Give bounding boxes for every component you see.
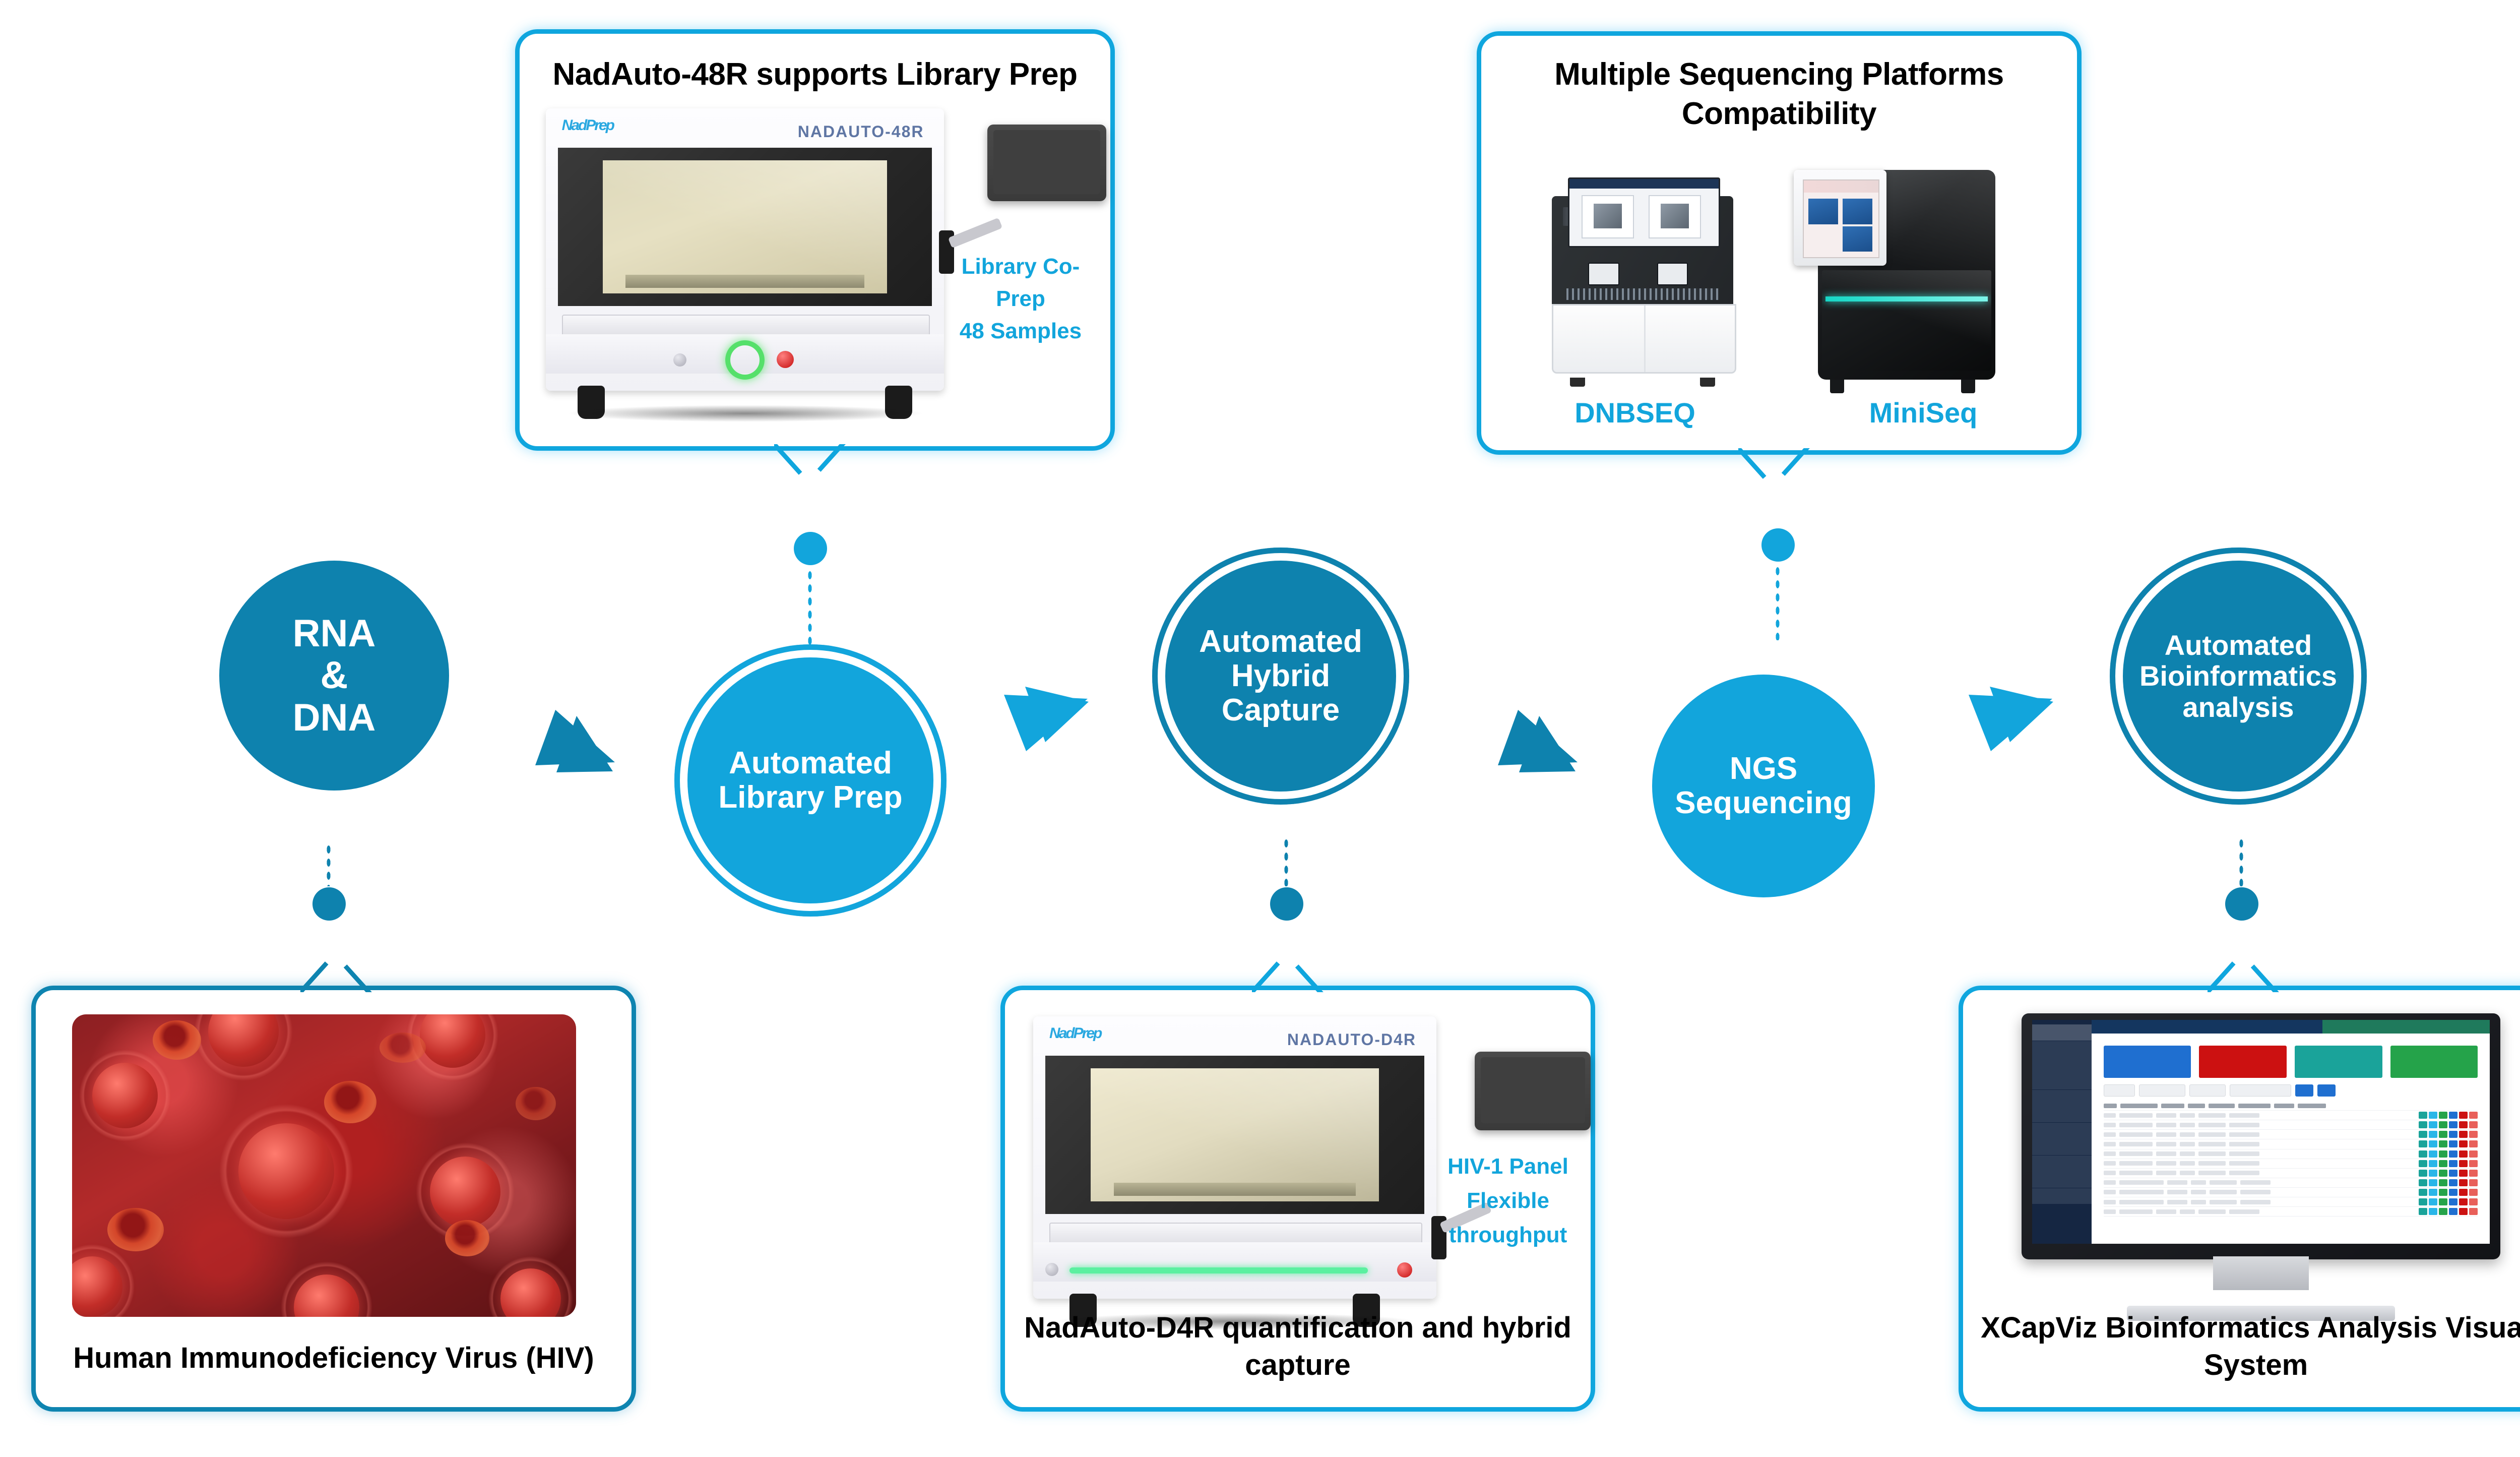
table-row[interactable] xyxy=(2104,1188,2478,1197)
connector-dot xyxy=(794,532,827,565)
dashboard-filter-row[interactable] xyxy=(2092,1084,2490,1101)
hiv-virus-image xyxy=(72,1014,576,1317)
dashboard-topbar xyxy=(2092,1020,2490,1034)
kpi-tile[interactable] xyxy=(2104,1046,2191,1078)
table-row[interactable] xyxy=(2104,1130,2478,1139)
card-nadauto-d4r[interactable]: NadPrep NADAUTO-D4R HIV-1 Panel Flexible… xyxy=(1000,986,1595,1412)
node-line: Hybrid xyxy=(1231,659,1330,693)
arrow-2-library-prep-to-hybrid xyxy=(989,671,1130,771)
node-line: DNA xyxy=(293,697,376,739)
workflow-node-bioinformatics[interactable]: Automated Bioinformatics analysis xyxy=(2110,548,2367,805)
platform-label-dnbseq: DNBSEQ xyxy=(1574,397,1695,429)
table-row[interactable] xyxy=(2104,1139,2478,1149)
table-row[interactable] xyxy=(2104,1169,2478,1178)
table-row[interactable] xyxy=(2104,1207,2478,1217)
table-row[interactable] xyxy=(2104,1111,2478,1120)
card-hiv-caption: Human Immunodeficiency Virus (HIV) xyxy=(36,1341,632,1376)
node-line: Sequencing xyxy=(1675,786,1852,820)
card-d4r-caption-line1: NadAuto-D4R quantification and hybrid xyxy=(1005,1310,1591,1346)
xcapviz-monitor xyxy=(2022,1013,2500,1321)
instrument-nadauto-48r: NadPrep NADAUTO-48R xyxy=(546,108,944,391)
sequencer-dnbseq-image xyxy=(1552,165,1733,387)
d4r-note-line2: Flexible xyxy=(1432,1184,1584,1218)
arrow-1-rna-to-library-prep xyxy=(514,701,665,802)
instrument-logo: NadPrep xyxy=(562,117,613,134)
library-coprep-note-line2: 48 Samples xyxy=(945,315,1096,347)
arrow-3-hybrid-to-ngs xyxy=(1477,701,1628,802)
kpi-tile[interactable] xyxy=(2295,1046,2382,1078)
table-row[interactable] xyxy=(2104,1197,2478,1207)
dashboard-table xyxy=(2092,1101,2490,1244)
node-line: Bioinformatics xyxy=(2139,660,2337,692)
card-library-prep[interactable]: NadAuto-48R supports Library Prep NadPre… xyxy=(515,29,1115,451)
card-library-prep-title: NadAuto-48R supports Library Prep xyxy=(520,56,1110,93)
workflow-node-hybrid-capture[interactable]: Automated Hybrid Capture xyxy=(1152,548,1409,805)
dashboard-kpi-row xyxy=(2092,1034,2490,1084)
arrow-4-ngs-to-bioinformatics xyxy=(1954,671,2095,771)
d4r-note-line3: throughput xyxy=(1432,1218,1584,1252)
node-line: Library Prep xyxy=(718,780,902,815)
xcapviz-dashboard xyxy=(2032,1020,2490,1244)
connector-dot xyxy=(1270,887,1303,921)
connector-dotted-line xyxy=(2238,837,2244,886)
node-line: NGS xyxy=(1730,752,1797,786)
node-line: Automated xyxy=(2165,630,2312,661)
instrument-model: NADAUTO-D4R xyxy=(1287,1030,1416,1049)
sequencer-miniseq-image xyxy=(1794,161,1995,389)
platform-label-miniseq: MiniSeq xyxy=(1869,397,1978,429)
workflow-node-ngs-sequencing[interactable]: NGS Sequencing xyxy=(1652,675,1875,897)
card-platforms-title-line2: Compatibility xyxy=(1481,95,2077,132)
kpi-tile[interactable] xyxy=(2390,1046,2478,1078)
table-row[interactable] xyxy=(2104,1149,2478,1159)
node-line: & xyxy=(321,654,348,697)
node-line: RNA xyxy=(293,613,376,655)
table-row[interactable] xyxy=(2104,1120,2478,1130)
instrument-monitor xyxy=(987,125,1106,201)
status-light-bar xyxy=(1069,1267,1368,1273)
table-row[interactable] xyxy=(2104,1178,2478,1188)
card-d4r-caption-line2: capture xyxy=(1005,1348,1591,1383)
instrument-nadauto-d4r: NadPrep NADAUTO-D4R xyxy=(1033,1016,1436,1299)
instrument-model: NADAUTO-48R xyxy=(798,123,924,141)
card-tail xyxy=(1738,448,1814,497)
connector-dotted-line xyxy=(807,569,813,644)
connector-dot xyxy=(2225,887,2258,921)
node-line: Automated xyxy=(1199,625,1362,659)
card-xcapviz-caption-line2: System xyxy=(1963,1348,2520,1383)
card-xcapviz-caption-line1: XCapViz Bioinformatics Analysis Visual xyxy=(1963,1310,2520,1346)
instrument-monitor xyxy=(1475,1052,1591,1130)
instrument-logo: NadPrep xyxy=(1049,1025,1101,1042)
kpi-tile[interactable] xyxy=(2199,1046,2286,1078)
card-tail xyxy=(300,944,376,992)
library-coprep-note-line1: Library Co-Prep xyxy=(945,251,1096,315)
connector-dot xyxy=(312,887,346,921)
workflow-node-library-prep[interactable]: Automated Library Prep xyxy=(674,644,947,917)
node-line: Capture xyxy=(1222,693,1340,727)
card-sequencing-platforms[interactable]: Multiple Sequencing Platforms Compatibil… xyxy=(1477,31,2082,455)
stop-button-indicator xyxy=(1397,1262,1412,1278)
dashboard-sidebar[interactable] xyxy=(2032,1020,2092,1244)
connector-dot xyxy=(1761,528,1795,562)
table-header-row xyxy=(2104,1101,2478,1111)
card-tail xyxy=(2208,944,2283,992)
node-line: analysis xyxy=(2182,692,2294,723)
card-hiv[interactable]: Human Immunodeficiency Virus (HIV) xyxy=(31,986,636,1412)
power-ring-indicator xyxy=(725,340,765,380)
node-line: Automated xyxy=(729,746,892,780)
card-xcapviz[interactable]: XCapViz Bioinformatics Analysis Visual S… xyxy=(1959,986,2520,1412)
card-tail xyxy=(774,444,850,493)
connector-dotted-line xyxy=(1775,565,1781,640)
table-row[interactable] xyxy=(2104,1159,2478,1169)
d4r-note-line1: HIV-1 Panel xyxy=(1432,1149,1584,1184)
card-tail xyxy=(1252,944,1328,992)
workflow-node-rna-dna[interactable]: RNA & DNA xyxy=(219,561,449,791)
connector-dotted-line xyxy=(326,843,332,886)
card-platforms-title-line1: Multiple Sequencing Platforms xyxy=(1481,56,2077,93)
connector-dotted-line xyxy=(1283,837,1289,886)
